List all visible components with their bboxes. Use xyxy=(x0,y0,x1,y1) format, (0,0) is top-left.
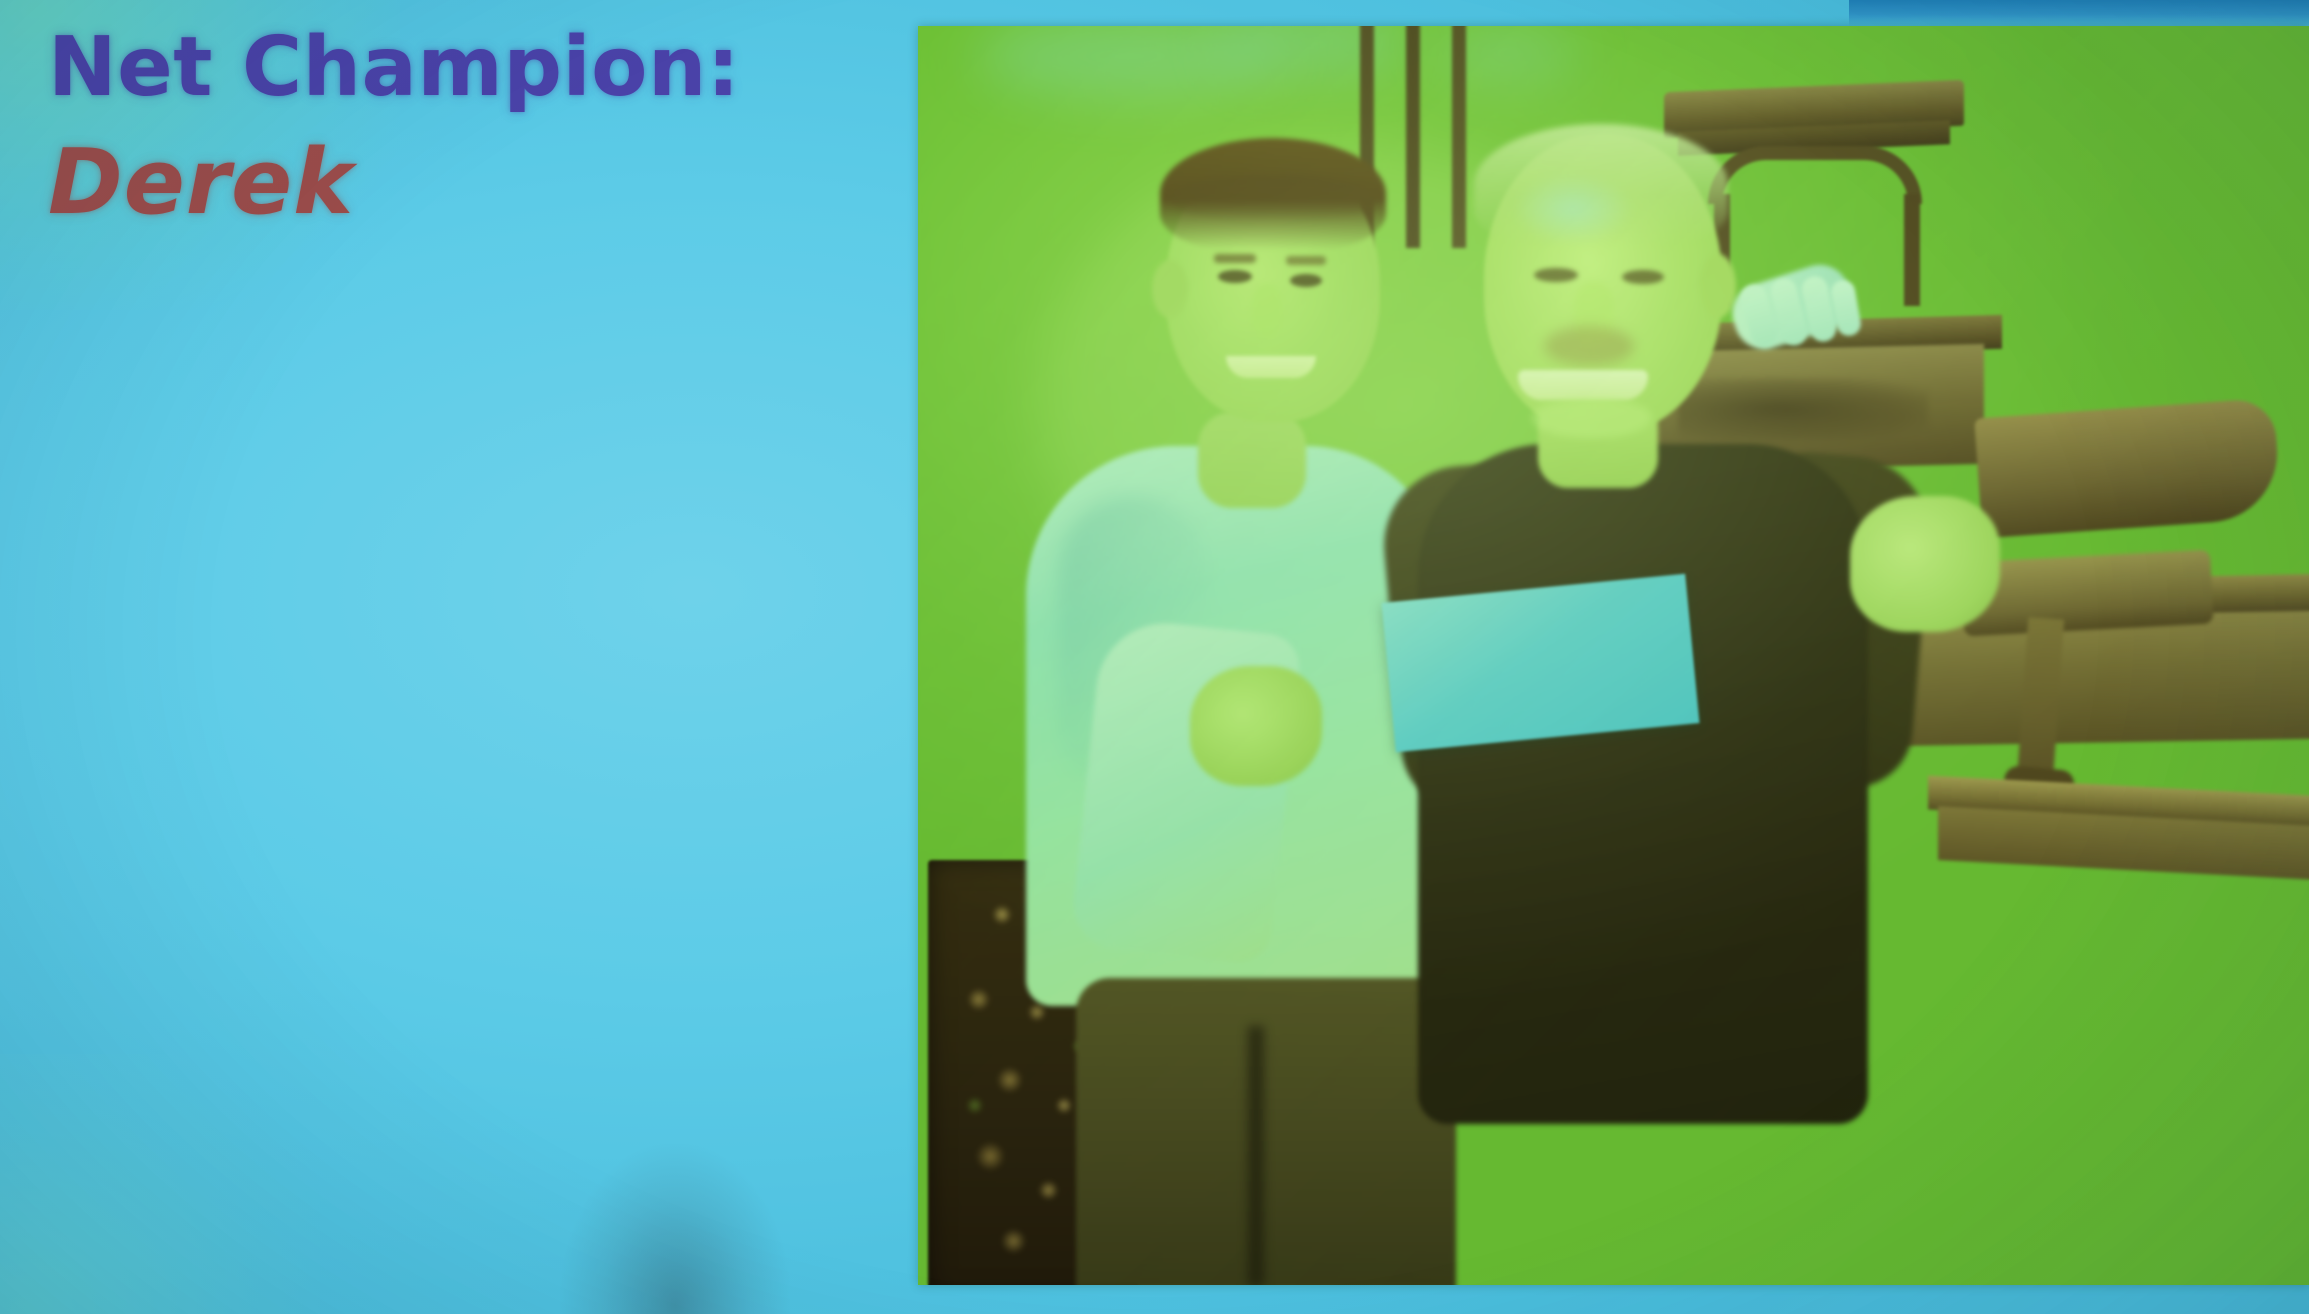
award-photo xyxy=(918,26,2309,1285)
slide-text-block: Net Champion: Derek xyxy=(48,22,868,230)
screen-smudge xyxy=(560,1144,790,1314)
projector-bleed-bottom-left xyxy=(0,1054,320,1314)
page-title: Net Champion: xyxy=(48,22,868,114)
photo-background-wall xyxy=(918,26,2309,1285)
projected-slide: Net Champion: Derek xyxy=(0,0,2309,1314)
champion-name: Derek xyxy=(48,136,868,231)
screen-top-edge-band xyxy=(1849,0,2309,26)
